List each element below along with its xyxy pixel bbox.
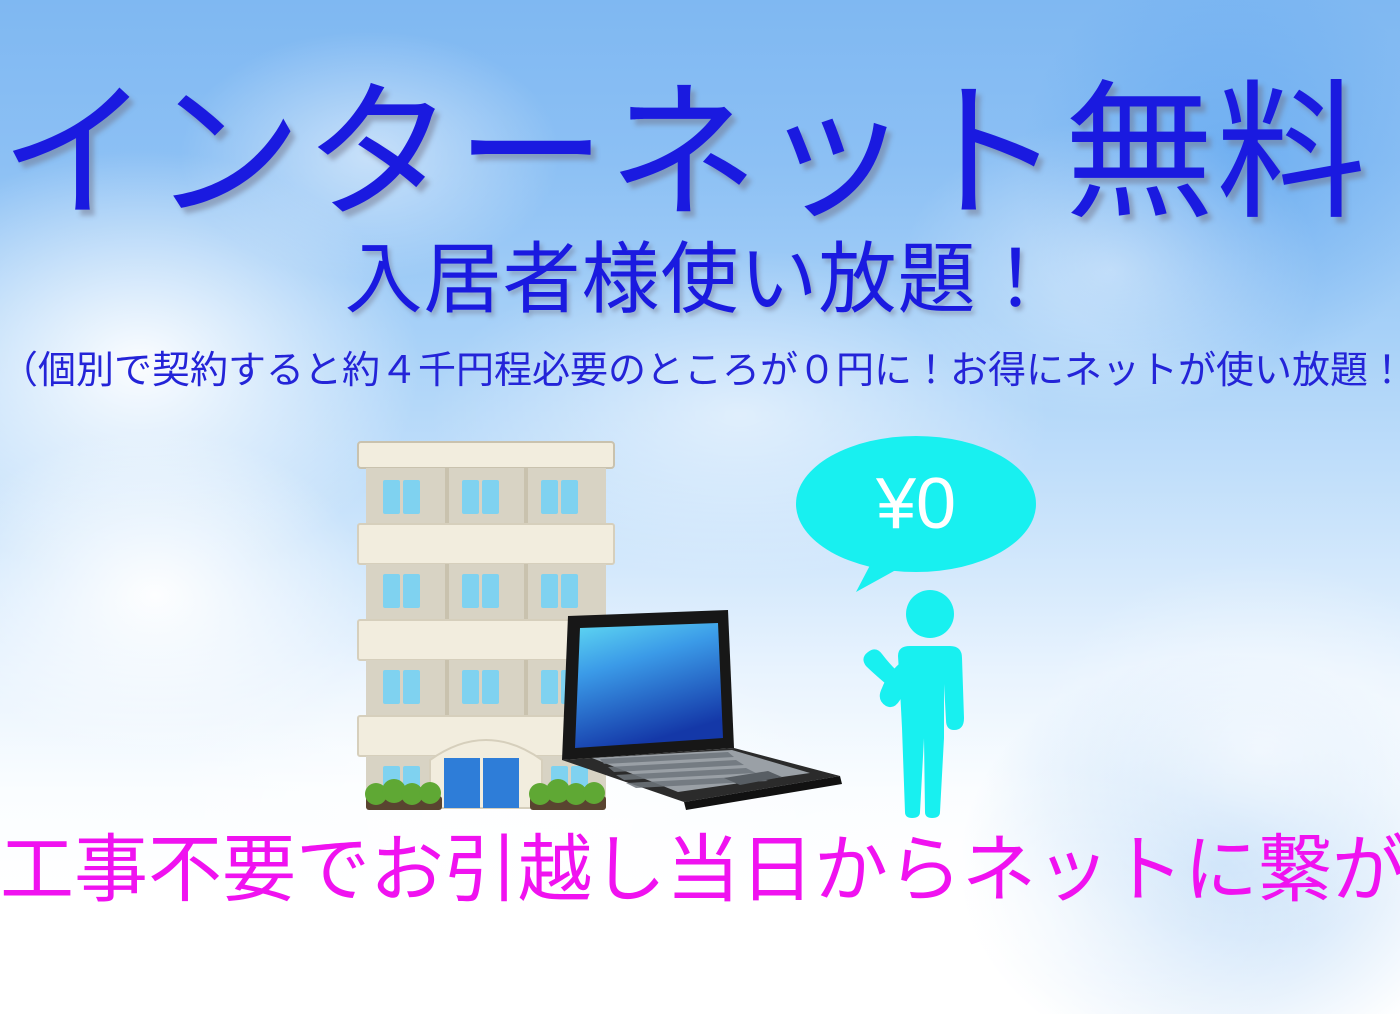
headline-text: インターネット無料！ (0, 78, 1400, 228)
speech-bubble-icon: ¥0 (792, 432, 1040, 602)
fineprint-text: （個別で契約すると約４千円程必要のところが０円に！お得にネットが使い放題！） (0, 352, 1400, 390)
subheadline-text: 入居者様使い放題！ (0, 240, 1400, 318)
speech-bubble-label: ¥0 (875, 464, 956, 544)
person-pictogram-icon (862, 588, 988, 818)
bottom-message-text: 工事不要でお引越し当日からネットに繋がります (0, 833, 1400, 907)
laptop-icon (556, 608, 846, 820)
promo-banner: インターネット無料！ 入居者様使い放題！ （個別で契約すると約４千円程必要のとこ… (0, 0, 1400, 1014)
